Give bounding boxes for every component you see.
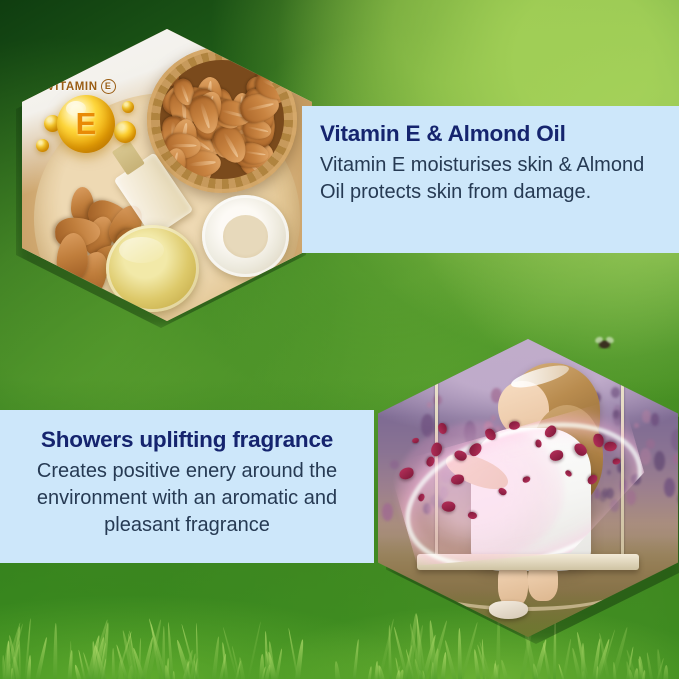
vitamin-e-droplet-letter: E <box>57 95 115 153</box>
fragrance-panel-body: Creates positive enery around the enviro… <box>16 458 358 539</box>
infographic-canvas: E VITAMIN E Vitamin E & Almond Oil Vit <box>0 0 679 679</box>
fragrance-benefit-panel: Showers uplifting fragrance Creates posi… <box>0 410 374 563</box>
bee-icon <box>598 340 611 349</box>
vitamin-droplet-small-2 <box>36 139 49 152</box>
clear-glass-bowl <box>202 195 289 277</box>
vitamin-e-badge-icon: E <box>101 79 116 94</box>
vitamin-panel-heading: Vitamin E & Almond Oil <box>320 122 665 147</box>
vitamin-benefit-panel: Vitamin E & Almond Oil Vitamin E moistur… <box>302 106 679 253</box>
vitamin-droplet-small-4 <box>122 101 134 113</box>
vitamin-e-droplet: E <box>57 95 115 153</box>
vitamin-panel-body: Vitamin E moisturises skin & Almond Oil … <box>320 152 665 206</box>
girl-shoe <box>489 601 528 619</box>
vitamin-droplet-small-3 <box>114 121 136 143</box>
fragrance-panel-heading: Showers uplifting fragrance <box>16 428 358 453</box>
